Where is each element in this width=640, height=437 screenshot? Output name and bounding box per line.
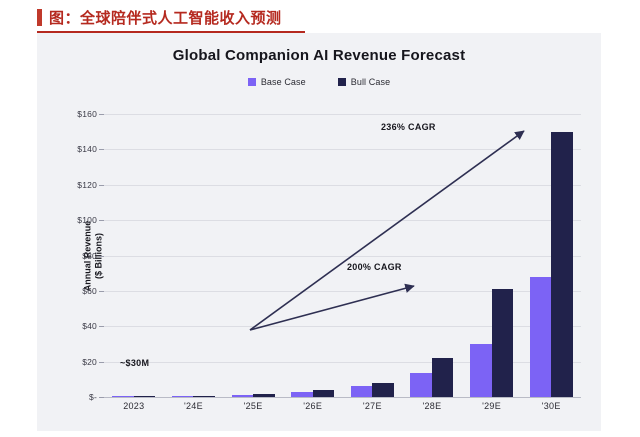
y-axis-tick-label: $120 <box>77 180 97 190</box>
annotation-cagr-base: 200% CAGR <box>347 262 402 272</box>
cagr-arrows <box>104 114 581 397</box>
page-title: 图：全球陪伴式人工智能收入预测 <box>49 7 282 28</box>
y-axis-tick-label: $140 <box>77 144 97 154</box>
y-axis-tick-label: $- <box>89 392 97 402</box>
legend-swatch-base-case <box>248 78 256 86</box>
x-axis-tick-label: '27E <box>343 401 403 411</box>
annotation-cagr-bull: 236% CAGR <box>381 122 436 132</box>
legend-label-bull-case: Bull Case <box>351 77 390 87</box>
x-axis-tick-label: '30E <box>521 401 581 411</box>
legend-item-base-case[interactable]: Base Case <box>248 77 306 87</box>
x-axis-tick-label: '25E <box>223 401 283 411</box>
y-axis-tick-label: $80 <box>82 251 97 261</box>
y-axis-tick-label: $20 <box>82 357 97 367</box>
x-axis-tick-label: '26E <box>283 401 343 411</box>
y-axis-tick-label: $60 <box>82 286 97 296</box>
legend-swatch-bull-case <box>338 78 346 86</box>
gridline-0 <box>104 397 581 398</box>
header-accent-bar <box>37 9 42 26</box>
x-axis-tick-label: '28E <box>402 401 462 411</box>
y-axis-tick-label: $160 <box>77 109 97 119</box>
y-axis-tick-label: $40 <box>82 321 97 331</box>
legend-label-base-case: Base Case <box>261 77 306 87</box>
chart-title: Global Companion AI Revenue Forecast <box>37 47 601 64</box>
plot-area: Annual Revenue ($ Billions) $-$20$40$60$… <box>104 114 581 397</box>
chart-legend: Base Case Bull Case <box>37 77 601 87</box>
x-axis-tick-label: '24E <box>164 401 224 411</box>
legend-item-bull-case[interactable]: Bull Case <box>338 77 390 87</box>
figure-header: 图：全球陪伴式人工智能收入预测 <box>0 0 640 36</box>
y-axis-tick-label: $100 <box>77 215 97 225</box>
chart-panel: Global Companion AI Revenue Forecast Bas… <box>37 33 601 431</box>
x-axis-tick-label: '29E <box>462 401 522 411</box>
y-axis-tick-mark <box>99 397 104 398</box>
x-axis-tick-label: 2023 <box>104 401 164 411</box>
